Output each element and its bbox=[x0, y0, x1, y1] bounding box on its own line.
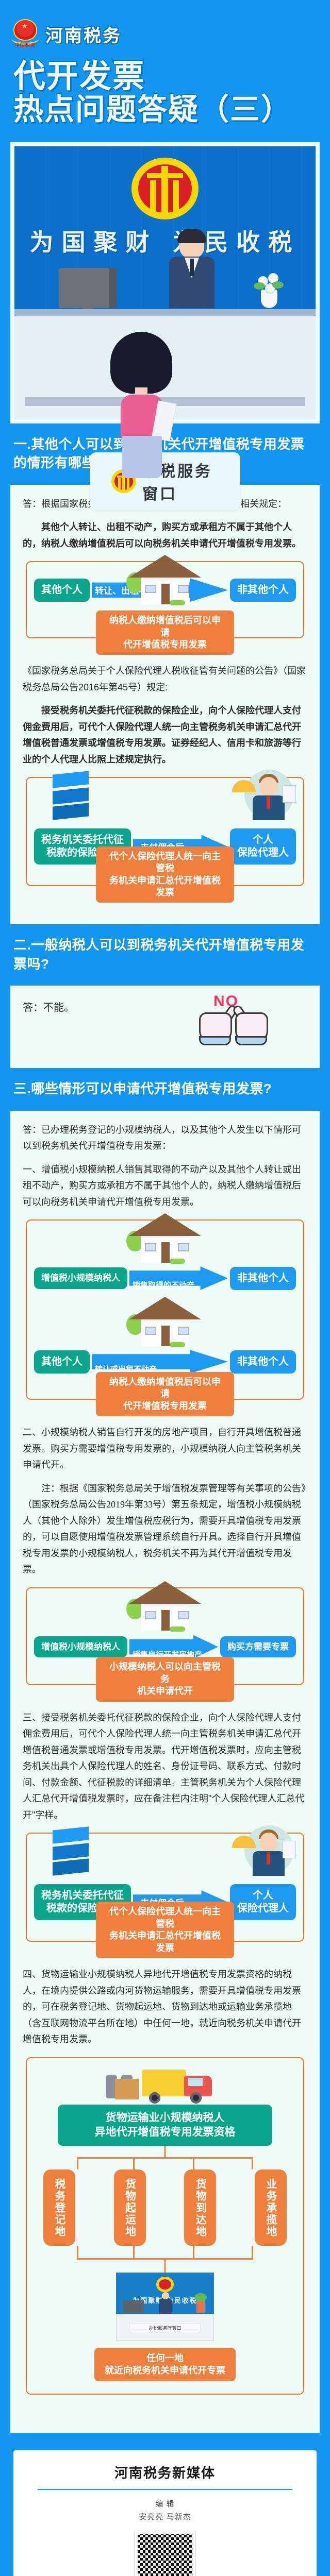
tree-diagram: 货物运输业小规模纳税人 异地代开增值税专用发票资格 税务登记地 货物起运地 货物… bbox=[26, 2057, 304, 2395]
china-tax-emblem-icon: ★ 中国税务 bbox=[11, 18, 39, 50]
tree-connector-top bbox=[65, 2146, 265, 2170]
hero-line-1: 代开发票 bbox=[13, 60, 317, 93]
house-illustration-a bbox=[126, 1213, 204, 1263]
answer-item-3-1: 一、增值税小规模纳税人销售其取得的不动产以及其他个人转让或出租不动产，购买方或承… bbox=[23, 1162, 307, 1211]
insurance-company-icon-2 bbox=[42, 1825, 99, 1878]
service-counter: 纳税服务窗口 bbox=[14, 316, 316, 419]
flower-vase-icon bbox=[254, 270, 285, 308]
flow-caption-3c: 小规模纳税人可以向主管税务 机关申请代开 bbox=[96, 1657, 234, 1701]
tree-caption: 任何一地 就近向税务机关申请代开专票 bbox=[94, 2348, 236, 2381]
flow-caption-1: 纳税人缴纳增值税后可以申请 代开增值税专用发票 bbox=[96, 611, 234, 655]
taxpayer-figure bbox=[110, 327, 172, 481]
footer-title: 河南税务新媒体 bbox=[24, 2463, 306, 2482]
flow-node-left-3b: 其他个人 bbox=[34, 1350, 90, 1374]
house-illustration bbox=[126, 555, 204, 604]
question-heading-3: 三.哪些情形可以申请代开增值税专用发票? bbox=[0, 1068, 330, 1110]
answer-item-3-4: 四、货物运输业小规模纳税人异地代开增值税专用发票资格的纳税人，在境内提供公路或内… bbox=[23, 1967, 307, 2048]
flow-diagram-1: 其他个人 转让、出租不动产 非其他个人 纳税人缴纳增值税后可以申请 代开增值税专… bbox=[26, 561, 304, 638]
footer: 河南税务新媒体 编 辑 安亮亮 马新杰 关注河南税务微信 bbox=[0, 2433, 330, 2576]
tree-node-0: 税务登记地 bbox=[43, 2170, 75, 2246]
tree-connector-bottom bbox=[65, 2246, 265, 2273]
flow-node-left-1: 其他个人 bbox=[34, 579, 90, 602]
insurance-agent-icon bbox=[232, 768, 294, 823]
masthead: ★ 中国税务 河南税务 bbox=[0, 0, 330, 57]
flow-arrow-label-3a: 销售取得的不动产 bbox=[133, 1279, 194, 1290]
emblem-sublabel: 中国税务 bbox=[12, 42, 38, 48]
flow-node-right-3c: 购买方需要专票 bbox=[220, 1636, 296, 1657]
answer-item-3-2: 二、小规模纳税人销售自行开发的房地产项目，自行开具增值税普通发票。购买方需要增值… bbox=[23, 1425, 307, 1473]
no-gesture-icon: NO bbox=[196, 993, 278, 1060]
site-logo-text: 河南税务 bbox=[45, 22, 122, 47]
banner-slogan: 为国聚财 为民收税 bbox=[14, 224, 316, 258]
qr-code-icon[interactable] bbox=[135, 2531, 195, 2576]
flow-caption-3d: 代个人保险代理人统一向主管税 务机关申请汇总代开增值税发票 bbox=[96, 1902, 234, 1958]
flow-caption-3b: 纳税人缴纳增值税后可以申请 代开增值税专用发票 bbox=[96, 1372, 234, 1416]
tree-node-2: 货物到达地 bbox=[184, 2170, 216, 2246]
flow-node-right-2: 个人 保险代理人 bbox=[230, 828, 296, 865]
footer-editor-label: 编 辑 bbox=[24, 2498, 306, 2509]
tree-node-row: 税务登记地 货物起运地 货物到达地 业务承揽地 bbox=[34, 2170, 296, 2246]
flow-caption-2: 代个人保险代理人统一向主管税 务机关申请汇总代开增值税发票 bbox=[96, 846, 234, 903]
banner-illustration: 为国聚财 为民收税 bbox=[0, 142, 330, 423]
answer-item-3-3: 三、接受税务机关委托代征税款的保险企业，向个人保险代理人支付佣金费用后，可代个人… bbox=[23, 1710, 307, 1824]
insurance-company-icon bbox=[42, 770, 99, 822]
footer-divider bbox=[38, 2489, 292, 2490]
flow-node-left-3c: 增值税小规模纳税人 bbox=[34, 1636, 127, 1657]
flow-node-right-3b: 非其他个人 bbox=[230, 1350, 296, 1374]
flow-node-right-3d: 个人 保险代理人 bbox=[230, 1884, 296, 1920]
footer-editor-names: 安亮亮 马新杰 bbox=[24, 2511, 306, 2522]
answer-note-3: 注：根据《国家税务总局关于增值税发票管理等有关事项的公告》（国家税务总局公告20… bbox=[23, 1481, 307, 1578]
tree-node-3: 业务承揽地 bbox=[255, 2170, 287, 2246]
answer-card-2: 答：不能。 NO bbox=[10, 986, 320, 1068]
flow-node-left-3a: 增值税小规模纳税人 bbox=[34, 1267, 127, 1289]
flow-diagram-3b: 其他个人 转让或出租不动产 非其他个人 纳税人缴纳增值税后可以申请 代开增值税专… bbox=[26, 1304, 304, 1400]
question-heading-2: 二.一般纳税人可以到税务机关代开增值税专用发票吗? bbox=[0, 924, 330, 986]
flow-diagram-3a: 增值税小规模纳税人 销售取得的不动产 非其他个人 bbox=[26, 1219, 304, 1304]
answer-card-3: 答：已办理税务登记的小规模纳税人，以及其他个人发生以下情形可以到税务机关代开增值… bbox=[10, 1111, 320, 2433]
tree-node-1: 货物起运地 bbox=[114, 2170, 146, 2246]
answer-card-1: 答：根据国家税务总局2016年第14号、第16号公告的相关规定： 其他个人转让、… bbox=[10, 485, 320, 925]
flow-diagram-2: 税务机关委托代征 税款的保险企业 支付佣金后 个人 保险代理人 代个人保险代理人… bbox=[26, 777, 304, 886]
tax-emblem-tiny-icon bbox=[156, 2277, 174, 2292]
answer-intro-1b: 《国家税务总局关于个人保险代理人税收征管有关问题的公告》（国家税务总局公告201… bbox=[23, 663, 307, 696]
insurance-agent-icon-2 bbox=[232, 1823, 294, 1879]
flow-node-right-1: 非其他个人 bbox=[230, 579, 296, 602]
tax-hall-illustration: 为国聚财 为民收税 办税服务厅窗口 bbox=[116, 2273, 214, 2341]
hall-window-plate: 办税服务厅窗口 bbox=[129, 2323, 201, 2332]
answer-body-1: 其他个人转让、出租不动产，购买方或承租方不属于其他个人的，纳税人缴纳增值税后可以… bbox=[23, 519, 307, 552]
answer-intro-3: 答：已办理税务登记的小规模纳税人，以及其他个人发生以下情形可以到税务机关代开增值… bbox=[23, 1122, 307, 1155]
answer-body-1b: 接受税务机关委托代征税款的保险企业，向个人保险代理人支付佣金费用后，可代个人保险… bbox=[23, 703, 307, 768]
delivery-truck-icon bbox=[106, 2054, 224, 2104]
house-illustration-c bbox=[126, 1581, 204, 1631]
qr-code-row bbox=[24, 2531, 306, 2576]
tax-emblem-icon bbox=[131, 158, 199, 219]
flow-arrow-3a: 销售取得的不动产 bbox=[129, 1262, 228, 1295]
monitor-icon bbox=[59, 268, 117, 308]
flow-node-right-3a: 非其他个人 bbox=[230, 1267, 296, 1290]
tax-officer-figure bbox=[167, 231, 217, 308]
hero-title: 代开发票 热点问题答疑（三） bbox=[0, 57, 330, 142]
infographic-page: ★ 中国税务 河南税务 代开发票 热点问题答疑（三） 为国聚财 为民收税 bbox=[0, 0, 330, 2576]
hero-line-2: 热点问题答疑（三） bbox=[13, 93, 317, 127]
flow-diagram-3d: 税务机关委托代征 税款的保险企业 支付佣金后 个人 保险代理人 代个人保险代理人… bbox=[26, 1833, 304, 1942]
house-illustration-b bbox=[126, 1297, 204, 1346]
tax-office-scene: 为国聚财 为民收税 bbox=[14, 146, 316, 316]
tree-root-node: 货物运输业小规模纳税人 异地代开增值税专用发票资格 bbox=[58, 2105, 272, 2146]
flow-diagram-3c: 增值税小规模纳税人 销售自行开发房地产 购买方需要专票 小规模纳税人可以向主管税… bbox=[26, 1587, 304, 1685]
